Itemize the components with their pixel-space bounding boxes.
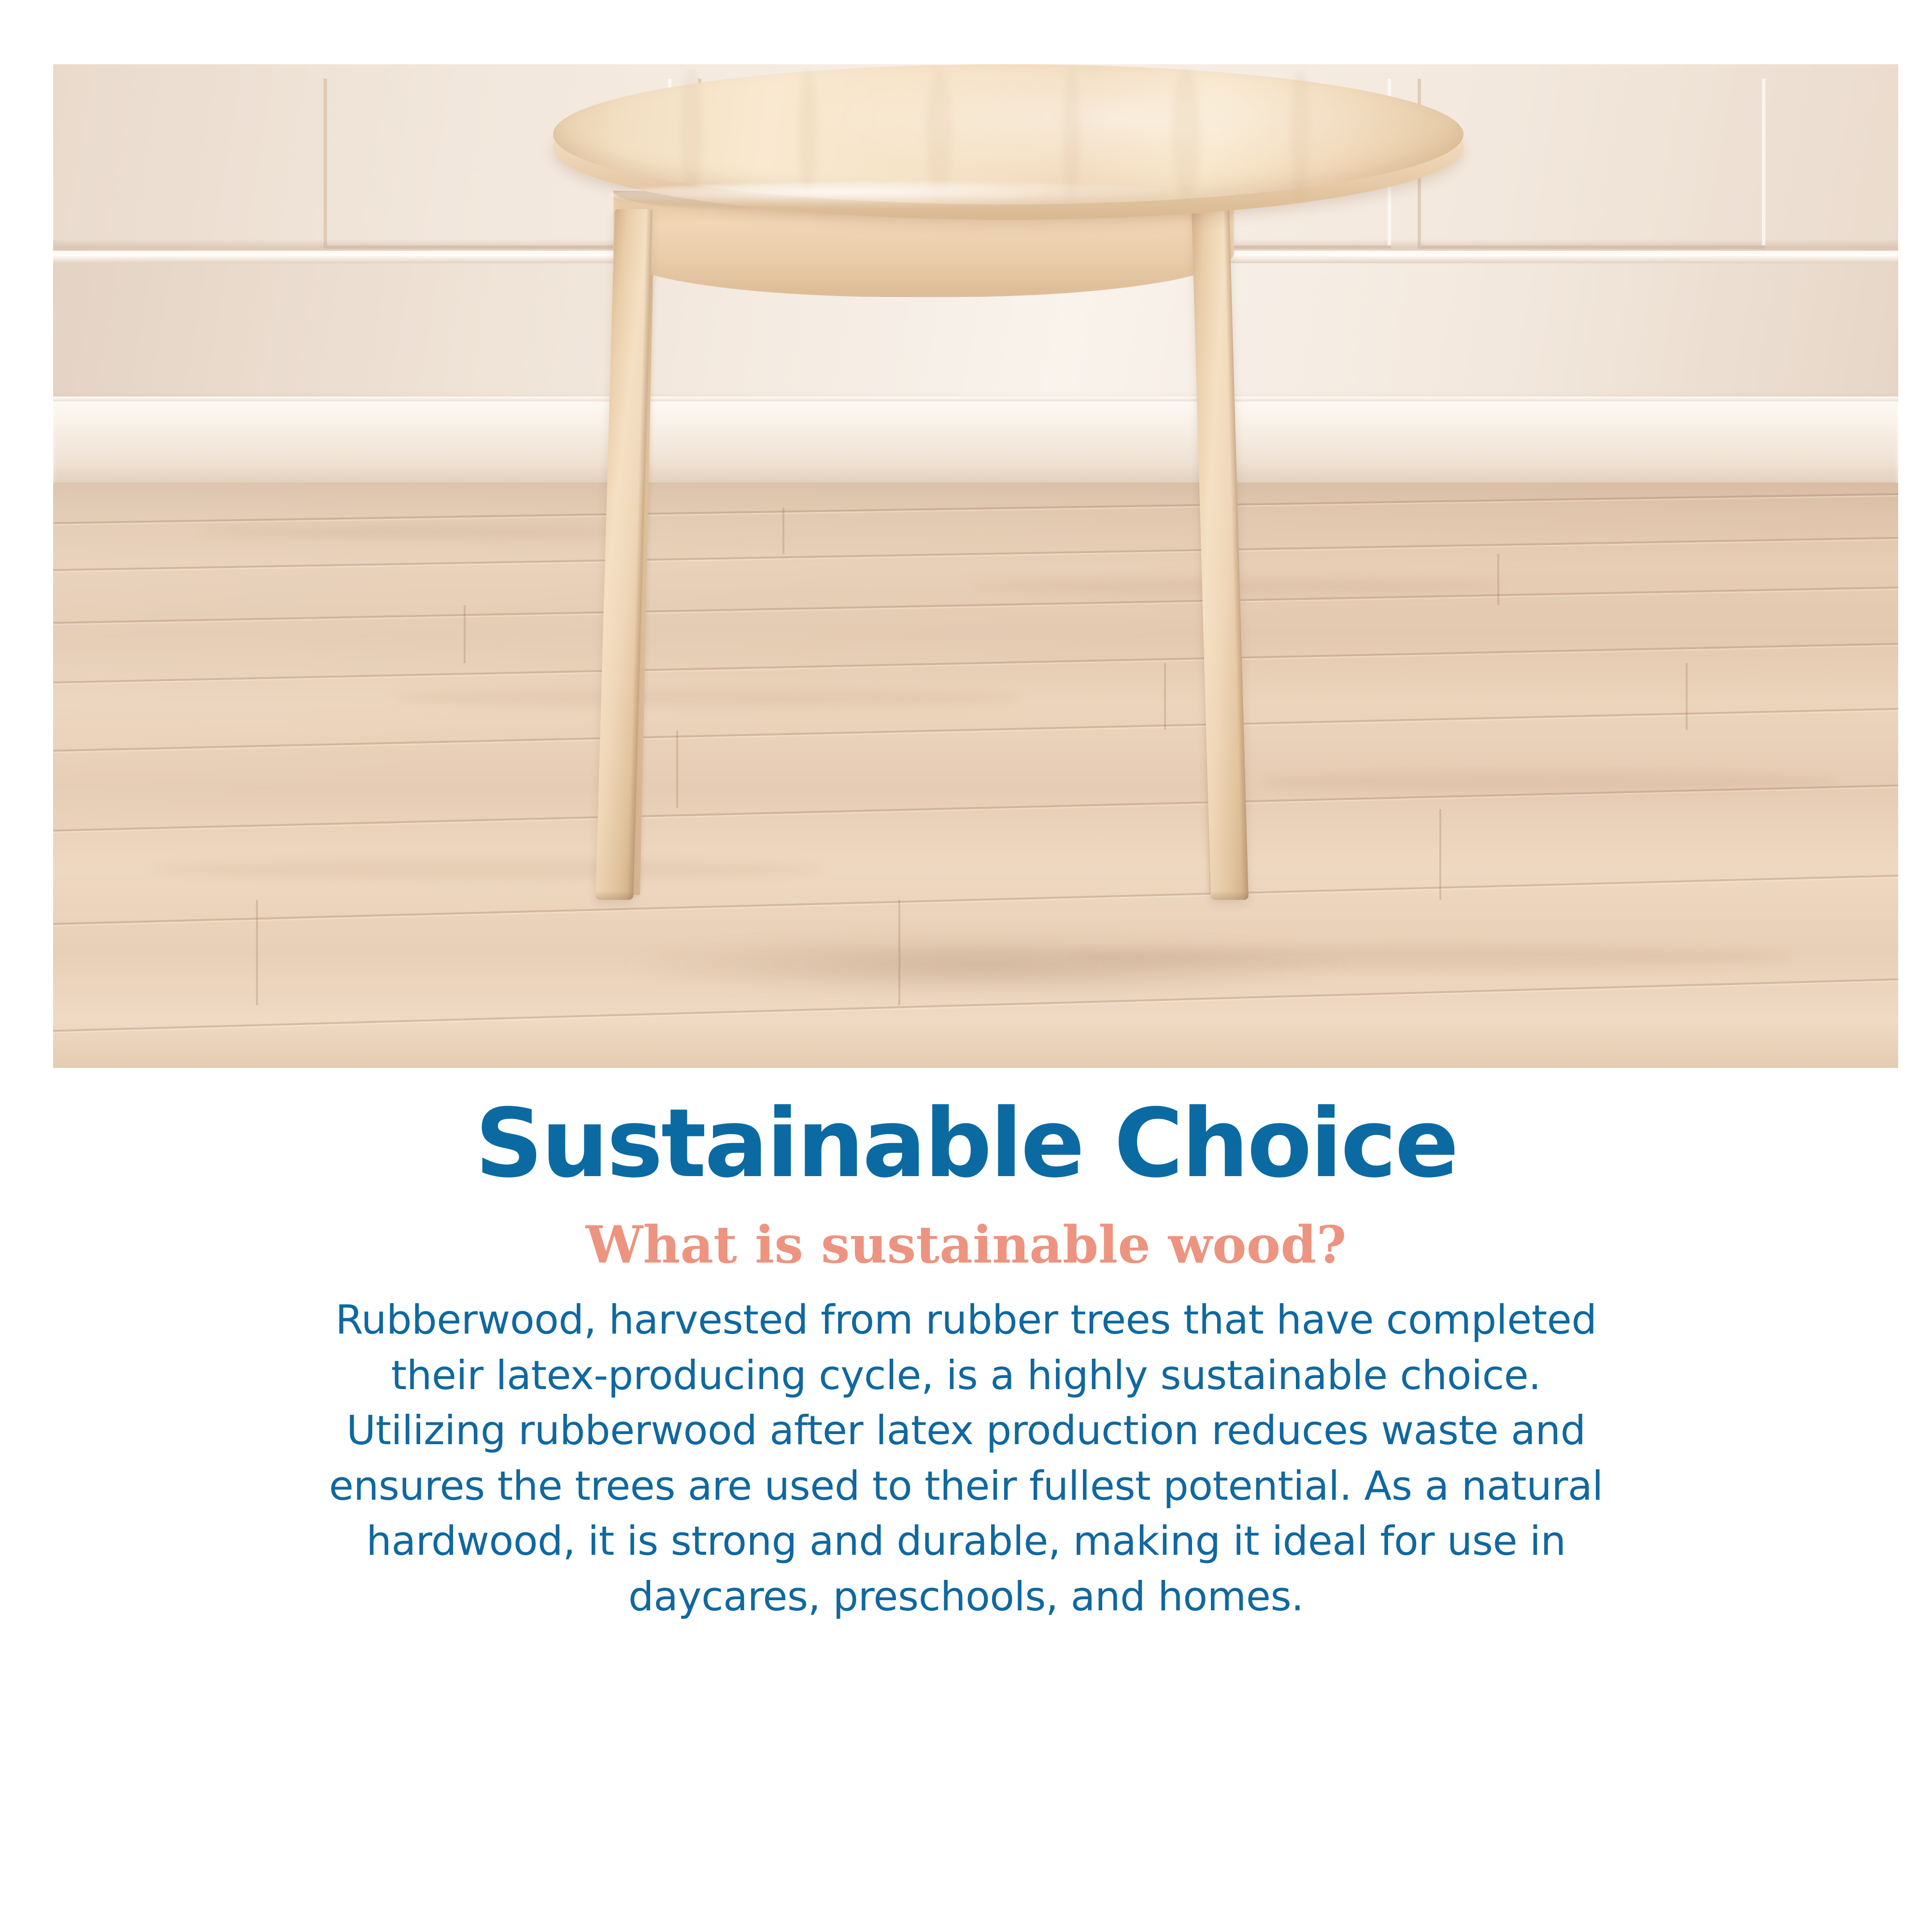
wall-panel-1 [324, 79, 671, 245]
body-line: ensures the trees are used to their full… [87, 1459, 1845, 1514]
body-line: Rubberwood, harvested from rubber trees … [87, 1293, 1845, 1348]
floor-plank-seam [53, 705, 1898, 755]
floor-plank-seam [53, 534, 1898, 573]
floor-plank-joint [1686, 663, 1688, 730]
product-photo [53, 64, 1898, 1068]
floor-grain-streak [391, 690, 1019, 707]
body-line: daycares, preschools, and homes. [87, 1569, 1845, 1625]
floor-grain-streak [1261, 772, 1840, 791]
floor-plank-joint [1164, 663, 1166, 730]
body-paragraph: Rubberwood, harvested from rubber trees … [0, 1293, 1932, 1624]
chair-rail-molding [53, 251, 1898, 263]
floor-plank-seam [53, 583, 1898, 626]
floor-plank-joint [676, 731, 678, 808]
floor-plank-joint [898, 900, 900, 1005]
floor-plank-joint [256, 900, 258, 1005]
floor-plank-seam [53, 974, 1898, 1036]
floor-plank-seam [53, 871, 1898, 929]
wood-plank-floor [53, 483, 1898, 1068]
body-line: their latex-producing cycle, is a highly… [87, 1348, 1845, 1404]
floor-plank-joint [464, 605, 466, 663]
floor-grain-streak [971, 579, 1502, 594]
floor-grain-streak [198, 526, 633, 539]
wall-panel-2 [698, 79, 1026, 245]
text-content-block: Sustainable Choice What is sustainable w… [0, 1096, 1932, 1624]
baseboard-molding [53, 397, 1898, 487]
floor-plank-seam [53, 491, 1898, 526]
body-line: hardwood, it is strong and durable, maki… [87, 1514, 1845, 1569]
floor-grain-streak [150, 859, 826, 880]
section-subtitle: What is sustainable wood? [0, 1219, 1932, 1270]
floor-plank-joint [782, 508, 784, 554]
floor-plank-joint [1439, 809, 1441, 900]
body-line: Utilizing rubberwood after latex product… [87, 1403, 1845, 1459]
wall-middle-section [53, 263, 1898, 399]
page-title: Sustainable Choice [0, 1096, 1932, 1191]
floor-plank-joint [1497, 554, 1499, 605]
floor-plank-seam [53, 640, 1898, 687]
wall-panel-3 [1053, 79, 1391, 245]
floor-grain-streak [1067, 946, 1792, 968]
wall-panel-4 [1418, 79, 1765, 245]
